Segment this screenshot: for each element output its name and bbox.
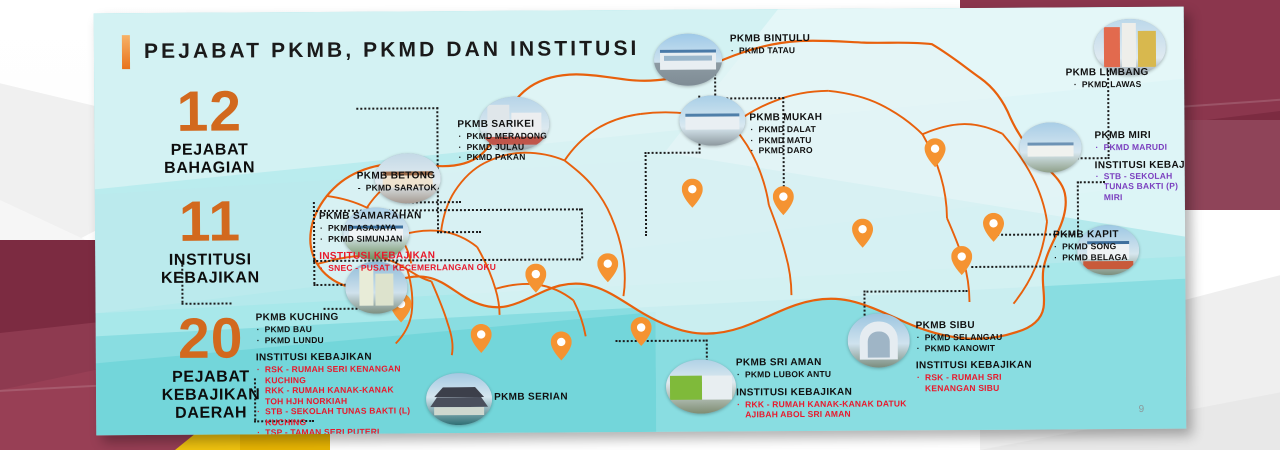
location-title: PKMB MIRI xyxy=(1094,130,1182,143)
label-block-kapit: PKMB KAPIT ·PKMD SONG ·PKMD BELAGA xyxy=(1053,229,1128,262)
bg-shape-yellow-accent-2 xyxy=(240,434,330,450)
location-item: ·PKMD LUBOK ANTU xyxy=(736,368,908,380)
location-item: ·PKMD DALAT xyxy=(749,124,822,135)
location-item: ·PKMD KANOWIT xyxy=(916,342,1046,353)
location-title: PKMB LIMBANG xyxy=(1032,67,1182,80)
location-item: ·PKMD LAWAS xyxy=(1032,79,1182,90)
photo-serian xyxy=(426,373,492,425)
label-block-sarikei: PKMB SARIKEI ·PKMD MERADONG ·PKMD JULAU … xyxy=(457,119,547,163)
location-item: ·PKMD SONG xyxy=(1053,241,1128,252)
location-title: PKMB SERIAN xyxy=(494,391,568,403)
page-number: 9 xyxy=(1139,404,1145,415)
location-item: ·PKMD JULAU xyxy=(458,141,548,152)
stat-block-institusi-kebajikan: 11 INSTITUSI KEBAJIKAN xyxy=(115,195,306,288)
location-title: PKMB KAPIT xyxy=(1053,229,1128,241)
label-block-serian: PKMB SERIAN xyxy=(494,391,568,403)
photo-bintulu xyxy=(654,33,722,85)
connector-samarahan-tail xyxy=(181,302,231,304)
institution-item: ·STB - SEKOLAH TUNAS BAKTI (P) MIRI xyxy=(1095,170,1183,202)
stat-label-line2: BAHAGIAN xyxy=(115,159,305,178)
stat-label-line1: PEJABAT xyxy=(115,141,305,160)
map-pin-miri[interactable] xyxy=(983,213,1004,242)
photo-mukah xyxy=(679,95,745,145)
stat-label-line3: DAERAH xyxy=(116,404,306,423)
location-item: ·PKMD MARUDI xyxy=(1095,142,1183,153)
stat-block-pejabat-bahagian: 12 PEJABAT BAHAGIAN xyxy=(114,85,305,178)
map-pin-mukah[interactable] xyxy=(682,179,703,208)
photo-miri xyxy=(1019,122,1081,172)
connector-mukah-h xyxy=(645,152,701,154)
page-title: PEJABAT PKMB, PKMD DAN INSTITUSI xyxy=(144,37,640,64)
label-block-miri: PKMB MIRI ·PKMD MARUDI INSTITUSI KEBAJIK… xyxy=(1094,130,1182,203)
label-block-limbang: PKMB LIMBANG ·PKMD LAWAS xyxy=(1032,67,1182,90)
institution-heading: INSTITUSI KEBAJIKAN xyxy=(916,360,1046,373)
location-title: PKMB BETONG xyxy=(357,170,437,182)
location-item: ·PKMD MATU xyxy=(749,134,822,145)
map-pin-sri-aman[interactable] xyxy=(631,317,652,346)
location-title: PKMB MUKAH xyxy=(749,112,822,124)
label-block-sibu: PKMB SIBU ·PKMD SELANGAU ·PKMD KANOWIT I… xyxy=(916,320,1046,394)
location-item: ·PKMD TATAU xyxy=(730,45,810,56)
institution-item: ·SNEC - PUSAT KECEMERLANGAN OKU xyxy=(319,262,496,274)
title-bar: PEJABAT PKMB, PKMD DAN INSTITUSI xyxy=(122,32,640,69)
map-pin-bintulu-area[interactable] xyxy=(852,219,873,248)
location-title: PKMB SRI AMAN xyxy=(736,356,908,369)
institution-item: ·RKK - RUMAH KANAK-KANAK DATUK AJIBAH AB… xyxy=(736,398,908,420)
location-item: ·PKMD SIMUNJAN xyxy=(319,232,496,244)
map-pin-limbang[interactable] xyxy=(924,138,945,167)
stat-number: 20 xyxy=(116,312,306,365)
location-item: ·PKMD PAKAN xyxy=(458,152,548,163)
location-title: PKMB SAMARAHAN xyxy=(319,210,496,223)
map-pin-betong[interactable] xyxy=(525,264,546,293)
label-block-sri-aman: PKMB SRI AMAN ·PKMD LUBOK ANTU INSTITUSI… xyxy=(736,356,908,420)
location-item: ·PKMD SELANGAU xyxy=(916,332,1046,343)
infographic-card: PEJABAT PKMB, PKMD DAN INSTITUSI 12 PEJA… xyxy=(94,7,1187,436)
location-title: PKMB SARIKEI xyxy=(457,119,547,132)
location-title: PKMB BINTULU xyxy=(730,33,810,45)
stat-label-line1: PEJABAT xyxy=(116,368,306,387)
stat-block-pejabat-kebajikan-daerah: 20 PEJABAT KEBAJIKAN DAERAH xyxy=(116,312,307,423)
label-block-bintulu: PKMB BINTULU ·PKMD TATAU xyxy=(730,33,810,56)
stat-label-line2: KEBAJIKAN xyxy=(115,269,305,288)
location-item: ·PKMD MERADONG xyxy=(457,131,547,142)
institution-heading: INSTITUSI KEBAJIKAN xyxy=(1095,159,1183,171)
title-accent-bar xyxy=(122,35,130,69)
stat-number: 11 xyxy=(115,195,305,248)
location-item: -PKMD SARATOK xyxy=(357,182,437,193)
location-item: ·PKMD BELAGA xyxy=(1053,252,1128,263)
label-block-mukah: PKMB MUKAH ·PKMD DALAT ·PKMD MATU ·PKMD … xyxy=(749,112,822,156)
stat-number: 12 xyxy=(114,85,304,138)
map-pin-kapit[interactable] xyxy=(951,246,972,275)
location-item: ·PKMD DARO xyxy=(750,145,823,156)
map-pin-bintulu[interactable] xyxy=(773,186,794,215)
photo-sri-aman xyxy=(666,359,736,413)
map-pin-serian[interactable] xyxy=(551,331,572,360)
location-title: PKMB SIBU xyxy=(916,320,1046,333)
institution-item: ·RSK - RUMAH SRI KENANGAN SIBU xyxy=(916,372,1046,394)
label-block-betong: PKMB BETONG -PKMD SARATOK xyxy=(357,170,437,193)
label-block-samarahan: PKMB SAMARAHAN ·PKMD ASAJAYA ·PKMD SIMUN… xyxy=(319,210,496,274)
stat-label-line1: INSTITUSI xyxy=(115,251,305,270)
map-pin-samarahan[interactable] xyxy=(471,324,492,353)
institution-heading: INSTITUSI KEBAJIKAN xyxy=(319,250,496,263)
map-pin-sarikei[interactable] xyxy=(597,253,618,282)
institution-heading: INSTITUSI KEBAJIKAN xyxy=(736,386,908,399)
connector-samarahan-right xyxy=(581,208,583,258)
stat-label-line2: KEBAJIKAN xyxy=(116,386,306,405)
